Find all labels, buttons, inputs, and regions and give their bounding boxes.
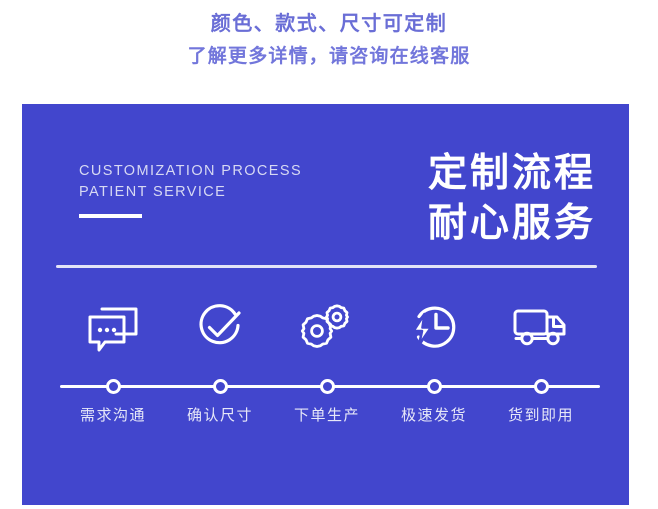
eyebrow-text: CUSTOMIZATION PROCESS PATIENT SERVICE	[79, 161, 302, 203]
chat-bubbles-icon	[60, 294, 167, 360]
timeline-dot-1	[106, 379, 121, 394]
process-step-3-label: 下单生产	[274, 404, 381, 425]
promo-header: 颜色、款式、尺寸可定制 了解更多详情，请咨询在线客服	[0, 0, 658, 104]
check-circle-icon	[167, 294, 274, 360]
delivery-truck-icon	[488, 294, 595, 360]
clock-bolt-icon	[381, 294, 488, 360]
process-steps: 需求沟通 确认尺寸	[22, 294, 629, 444]
customization-process-panel: CUSTOMIZATION PROCESS PATIENT SERVICE 定制…	[22, 104, 629, 505]
process-step-1: 需求沟通	[60, 294, 167, 360]
header-line-2: 了解更多详情，请咨询在线客服	[0, 44, 658, 70]
process-step-3: 下单生产	[274, 294, 381, 360]
panel-headline: 定制流程 耐心服务	[428, 149, 596, 249]
panel-divider	[56, 265, 597, 268]
process-step-2-label: 确认尺寸	[167, 404, 274, 425]
timeline-dot-2	[213, 379, 228, 394]
timeline-dot-3	[320, 379, 335, 394]
eyebrow-underline	[79, 214, 142, 218]
headline-line-2: 耐心服务	[428, 199, 596, 249]
headline-line-1: 定制流程	[428, 152, 596, 195]
timeline-dot-4	[427, 379, 442, 394]
header-line-1: 颜色、款式、尺寸可定制	[0, 11, 658, 37]
process-step-4: 极速发货	[381, 294, 488, 360]
process-step-5: 货到即用	[488, 294, 595, 360]
process-step-2: 确认尺寸	[167, 294, 274, 360]
process-step-4-label: 极速发货	[381, 404, 488, 425]
eyebrow-line-2: PATIENT SERVICE	[79, 182, 302, 203]
gears-icon	[274, 294, 381, 360]
process-step-5-label: 货到即用	[488, 404, 595, 425]
process-step-1-label: 需求沟通	[60, 404, 167, 425]
eyebrow-line-1: CUSTOMIZATION PROCESS	[79, 163, 302, 179]
timeline-dot-5	[534, 379, 549, 394]
